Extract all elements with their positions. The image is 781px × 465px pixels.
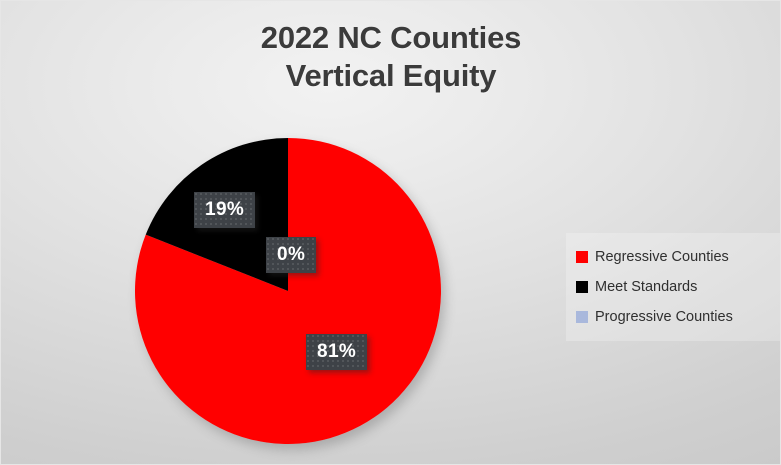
legend-item-meet-standards[interactable]: Meet Standards: [576, 272, 781, 302]
legend-label-meet-standards: Meet Standards: [595, 279, 697, 295]
legend-swatch-icon-meet-standards: [576, 281, 588, 293]
chart-title-line-2: Vertical Equity: [96, 57, 686, 95]
data-label-regressive-counties: 81%: [306, 334, 367, 370]
chart-title: 2022 NC Counties Vertical Equity: [96, 19, 686, 95]
pie-slices: [135, 138, 441, 444]
data-label-progressive-counties: 0%: [266, 237, 316, 273]
legend-item-progressive-counties[interactable]: Progressive Counties: [576, 302, 781, 332]
chart-title-line-1: 2022 NC Counties: [96, 19, 686, 57]
pie-chart: [135, 138, 441, 444]
data-label-meet-standards: 19%: [194, 192, 255, 228]
legend-label-progressive: Progressive Counties: [595, 309, 733, 325]
legend-label-regressive: Regressive Counties: [595, 249, 729, 265]
legend-item-regressive-counties[interactable]: Regressive Counties: [576, 242, 781, 272]
chart-legend: Regressive Counties Meet Standards Progr…: [566, 233, 781, 341]
legend-swatch-icon-progressive: [576, 311, 588, 323]
chart-canvas: 2022 NC Counties Vertical Equity 19% 0% …: [0, 0, 781, 465]
legend-swatch-icon-regressive: [576, 251, 588, 263]
